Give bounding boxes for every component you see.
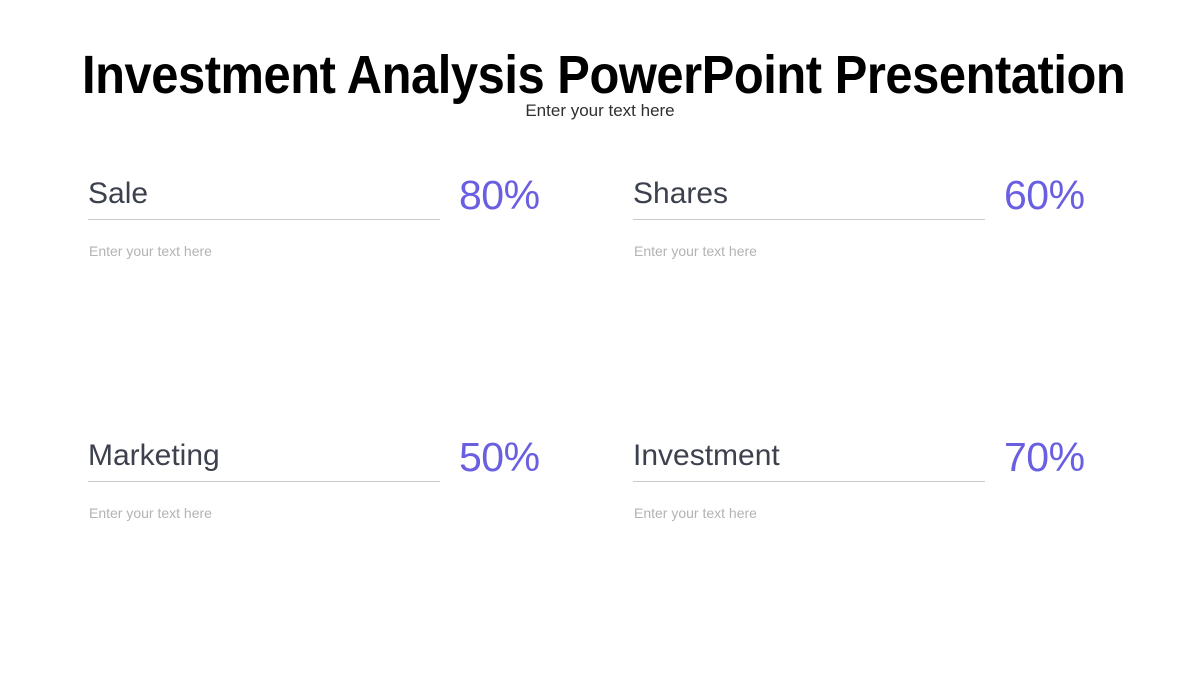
stat-label: Sale <box>88 175 148 213</box>
stat-value: 50% <box>459 434 540 480</box>
stat-block-investment[interactable]: Investment 70% Enter your text here <box>633 437 1085 483</box>
stat-header-row: Marketing 50% <box>88 437 540 483</box>
stat-block-marketing[interactable]: Marketing 50% Enter your text here <box>88 437 540 483</box>
stat-value: 80% <box>459 172 540 218</box>
stat-underline-rule <box>633 219 985 220</box>
stat-description: Enter your text here <box>89 503 212 523</box>
stat-description: Enter your text here <box>634 241 757 261</box>
stat-value: 60% <box>1004 172 1085 218</box>
stat-underline-rule <box>88 219 440 220</box>
stat-label: Marketing <box>88 437 220 475</box>
stat-underline-rule <box>88 481 440 482</box>
stats-grid: Sale 80% Enter your text here Shares 60%… <box>0 0 1200 675</box>
stat-block-shares[interactable]: Shares 60% Enter your text here <box>633 175 1085 221</box>
stat-underline-rule <box>633 481 985 482</box>
stat-description: Enter your text here <box>634 503 757 523</box>
stat-header-row: Shares 60% <box>633 175 1085 221</box>
stat-header-row: Sale 80% <box>88 175 540 221</box>
stat-label: Shares <box>633 175 728 213</box>
presentation-slide: Investment Analysis PowerPoint Presentat… <box>0 0 1200 675</box>
stat-description: Enter your text here <box>89 241 212 261</box>
stat-block-sale[interactable]: Sale 80% Enter your text here <box>88 175 540 221</box>
stat-header-row: Investment 70% <box>633 437 1085 483</box>
stat-value: 70% <box>1004 434 1085 480</box>
stat-label: Investment <box>633 437 780 475</box>
